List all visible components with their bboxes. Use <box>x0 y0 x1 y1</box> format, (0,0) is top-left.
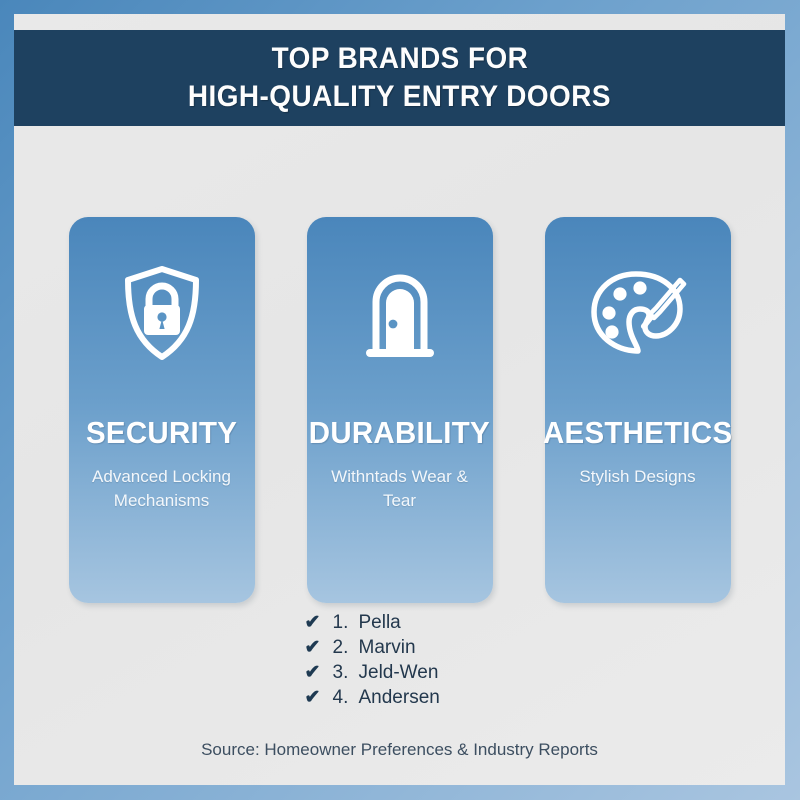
source-note: Source: Homeowner Preferences & Industry… <box>14 740 785 760</box>
feature-card-title: DURABILITY <box>309 417 490 448</box>
list-item: ✔ 2. Marvin <box>305 637 495 662</box>
list-item: ✔ 3. Jeld-Wen <box>305 662 495 687</box>
list-item-number: 3. <box>333 662 359 684</box>
check-icon: ✔ <box>305 613 333 632</box>
list-item-label: Andersen <box>359 687 440 709</box>
shield-lock-icon <box>120 259 204 367</box>
door-icon <box>354 259 446 367</box>
header-title-line-2: HIGH-QUALITY ENTRY DOORS <box>188 78 611 116</box>
infographic-canvas: TOP BRANDS FOR HIGH-QUALITY ENTRY DOORS … <box>14 14 785 785</box>
feature-card-subtitle: Stylish Designs <box>554 465 722 489</box>
check-icon: ✔ <box>305 688 333 707</box>
paint-palette-icon <box>588 259 688 367</box>
feature-card-aesthetics[interactable]: AESTHETICS Stylish Designs <box>545 217 731 603</box>
feature-card-title: AESTHETICS <box>543 417 732 448</box>
list-item: ✔ 4. Andersen <box>305 687 495 712</box>
infographic-root: TOP BRANDS FOR HIGH-QUALITY ENTRY DOORS … <box>0 0 800 800</box>
feature-card-security[interactable]: SECURITY Advanced Locking Mechanisms <box>69 217 255 603</box>
feature-card-durability[interactable]: DURABILITY Withntads Wear & Tear <box>307 217 493 603</box>
list-item-label: Marvin <box>359 637 416 659</box>
feature-card-subtitle: Withntads Wear & Tear <box>316 465 484 513</box>
list-item-label: Pella <box>359 612 401 634</box>
list-item: ✔ 1. Pella <box>305 612 495 637</box>
check-icon: ✔ <box>305 663 333 682</box>
feature-card-subtitle: Advanced Locking Mechanisms <box>78 465 246 513</box>
feature-card-title: SECURITY <box>86 417 237 448</box>
header-banner: TOP BRANDS FOR HIGH-QUALITY ENTRY DOORS <box>14 30 785 126</box>
list-item-number: 2. <box>333 637 359 659</box>
brand-ranking-list: ✔ 1. Pella ✔ 2. Marvin ✔ 3. Jeld-Wen ✔ 4… <box>14 612 785 712</box>
header-title-line-1: TOP BRANDS FOR <box>271 40 528 78</box>
feature-cards-row: SECURITY Advanced Locking Mechanisms DUR… <box>14 217 785 603</box>
check-icon: ✔ <box>305 638 333 657</box>
list-item-number: 1. <box>333 612 359 634</box>
list-item-label: Jeld-Wen <box>359 662 439 684</box>
list-item-number: 4. <box>333 687 359 709</box>
